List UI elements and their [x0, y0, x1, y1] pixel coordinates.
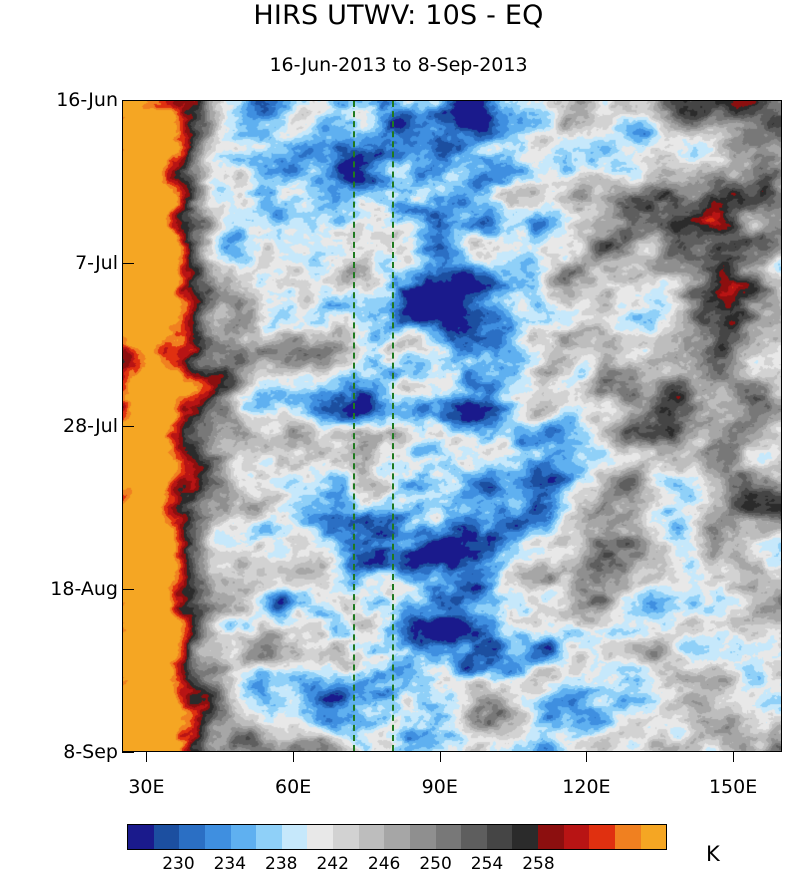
- y-axis-tick-mark: [122, 589, 134, 590]
- colorbar-unit: K: [706, 842, 720, 866]
- x-axis-tick-label: 90E: [395, 776, 485, 798]
- y-axis-tick-mark: [122, 426, 134, 427]
- colorbar-swatch: [231, 825, 257, 849]
- colorbar: [127, 824, 667, 850]
- heatmap-canvas: [123, 101, 781, 751]
- x-axis-tick-label: 120E: [541, 776, 631, 798]
- chart-page: HIRS UTWV: 10S - EQ 16-Jun-2013 to 8-Sep…: [0, 0, 797, 869]
- colorbar-swatch: [256, 825, 282, 849]
- y-axis-tick-label: 16-Jun: [0, 89, 118, 111]
- colorbar-swatch: [641, 825, 667, 849]
- y-axis-tick-label: 28-Jul: [0, 415, 118, 437]
- colorbar-swatch: [512, 825, 538, 849]
- colorbar-swatch: [436, 825, 462, 849]
- colorbar-swatch: [461, 825, 487, 849]
- colorbar-swatch: [154, 825, 180, 849]
- x-axis-tick-mark: [586, 752, 587, 762]
- colorbar-swatch: [615, 825, 641, 849]
- x-axis-tick-mark: [733, 752, 734, 762]
- x-axis-tick-mark: [440, 752, 441, 762]
- colorbar-swatch: [564, 825, 590, 849]
- chart-title: HIRS UTWV: 10S - EQ: [0, 0, 797, 31]
- y-axis-tick-mark: [122, 100, 134, 101]
- colorbar-swatch: [282, 825, 308, 849]
- x-axis-tick-label: 30E: [101, 776, 191, 798]
- colorbar-swatch: [333, 825, 359, 849]
- chart-subtitle: 16-Jun-2013 to 8-Sep-2013: [0, 54, 797, 76]
- x-axis-tick-mark: [293, 752, 294, 762]
- colorbar-swatch: [307, 825, 333, 849]
- colorbar-swatch: [538, 825, 564, 849]
- y-axis-tick-mark: [122, 263, 134, 264]
- colorbar-swatch: [179, 825, 205, 849]
- vertical-dashed-line-2: [392, 101, 394, 751]
- y-axis-tick-mark: [122, 752, 134, 753]
- colorbar-swatch: [359, 825, 385, 849]
- y-axis-tick-label: 18-Aug: [0, 578, 118, 600]
- hovmoller-plot-area: [122, 100, 782, 752]
- colorbar-swatch: [589, 825, 615, 849]
- x-axis-tick-label: 60E: [248, 776, 338, 798]
- colorbar-tick-label: 258: [508, 854, 568, 874]
- colorbar-swatch: [487, 825, 513, 849]
- colorbar-swatch: [410, 825, 436, 849]
- x-axis-tick-mark: [146, 752, 147, 762]
- colorbar-swatch: [205, 825, 231, 849]
- vertical-dashed-line-1: [353, 101, 355, 751]
- x-axis-tick-label: 150E: [688, 776, 778, 798]
- y-axis-tick-label: 8-Sep: [0, 741, 118, 763]
- colorbar-swatch: [128, 825, 154, 849]
- colorbar-swatch: [384, 825, 410, 849]
- y-axis-tick-label: 7-Jul: [0, 252, 118, 274]
